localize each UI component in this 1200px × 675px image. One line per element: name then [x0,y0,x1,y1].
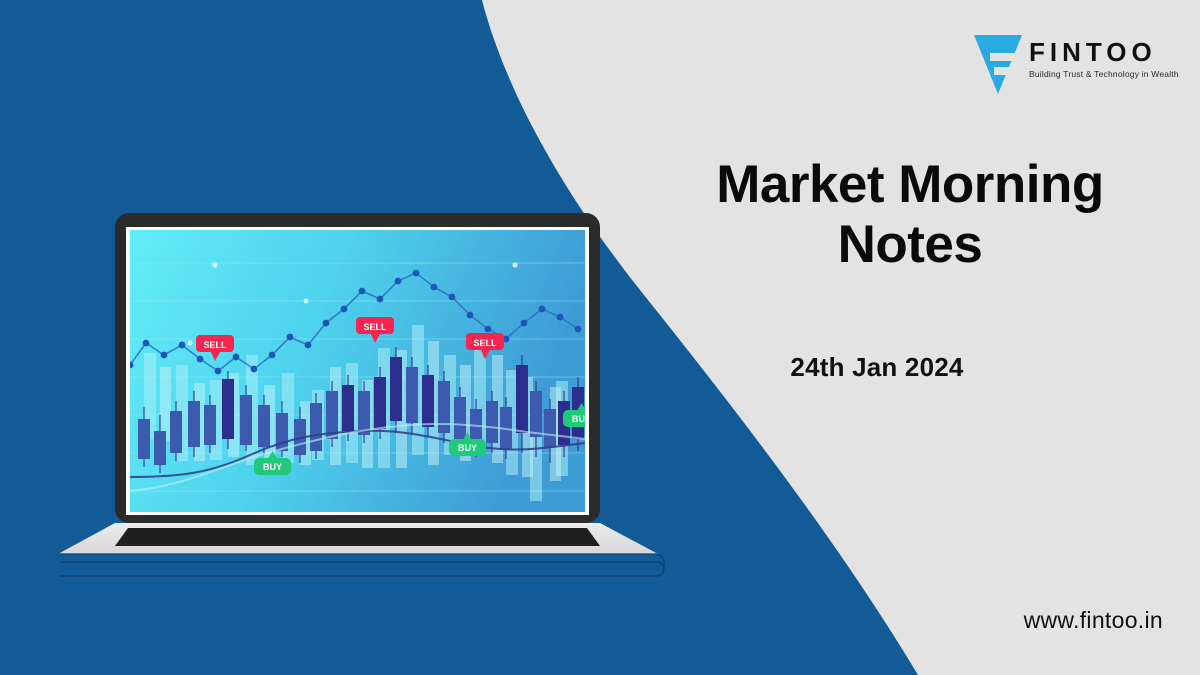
brand-name: FINTOO [1029,39,1179,65]
svg-text:BUY: BUY [458,443,477,453]
laptop-base [60,523,664,576]
brand-logo[interactable]: FINTOO Building Trust & Technology in We… [973,33,1179,96]
svg-text:SELL: SELL [203,340,227,350]
fintoo-triangle-f-icon [973,33,1023,96]
publication-date: 24th Jan 2024 [652,352,1102,383]
website-url[interactable]: www.fintoo.in [0,607,1163,634]
brand-tagline: Building Trust & Technology in Wealth [1029,70,1179,79]
page-title: Market Morning Notes [652,155,1168,276]
svg-text:SELL: SELL [473,338,497,348]
laptop-illustration: SELL SELL SELL BUY [60,205,680,580]
svg-text:SELL: SELL [363,322,387,332]
page-title-line-2: Notes [652,215,1168,275]
page-title-line-1: Market Morning [652,155,1168,215]
svg-text:BUY: BUY [263,462,282,472]
laptop-screen: SELL SELL SELL BUY [127,230,600,512]
poster-canvas: SELL SELL SELL BUY [0,0,1200,675]
